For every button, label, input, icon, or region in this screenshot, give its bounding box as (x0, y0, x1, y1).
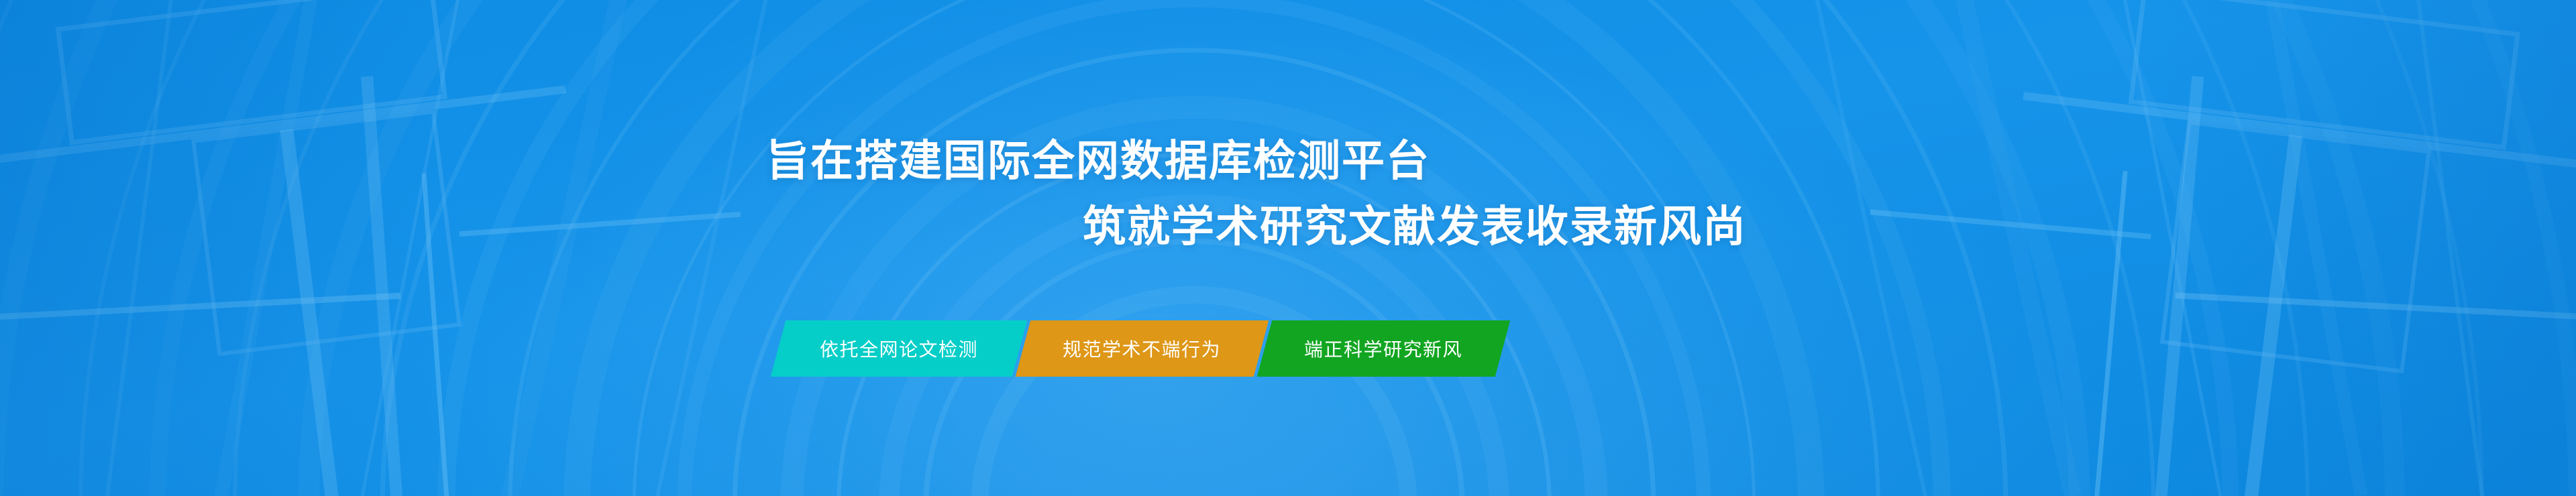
headline-secondary: 筑就学术研究文献发表收录新风尚 (1083, 205, 1747, 248)
feature-tag-integrity[interactable]: 端正科学研究新风 (1257, 320, 1511, 377)
promo-banner: 旨在搭建国际全网数据库检测平台 筑就学术研究文献发表收录新风尚 依托全网论文检测… (0, 0, 2576, 496)
feature-tag-strip: 依托全网论文检测 规范学术不端行为 端正科学研究新风 (778, 320, 1503, 377)
feature-tag-integrity-label: 端正科学研究新风 (1304, 335, 1462, 362)
headline-primary: 旨在搭建国际全网数据库检测平台 (766, 139, 1430, 182)
feature-tag-misconduct-label: 规范学术不端行为 (1063, 335, 1221, 362)
feature-tag-misconduct[interactable]: 规范学术不端行为 (1016, 320, 1269, 377)
feature-tag-detection[interactable]: 依托全网论文检测 (771, 320, 1028, 377)
feature-tag-detection-label: 依托全网论文检测 (820, 335, 978, 362)
